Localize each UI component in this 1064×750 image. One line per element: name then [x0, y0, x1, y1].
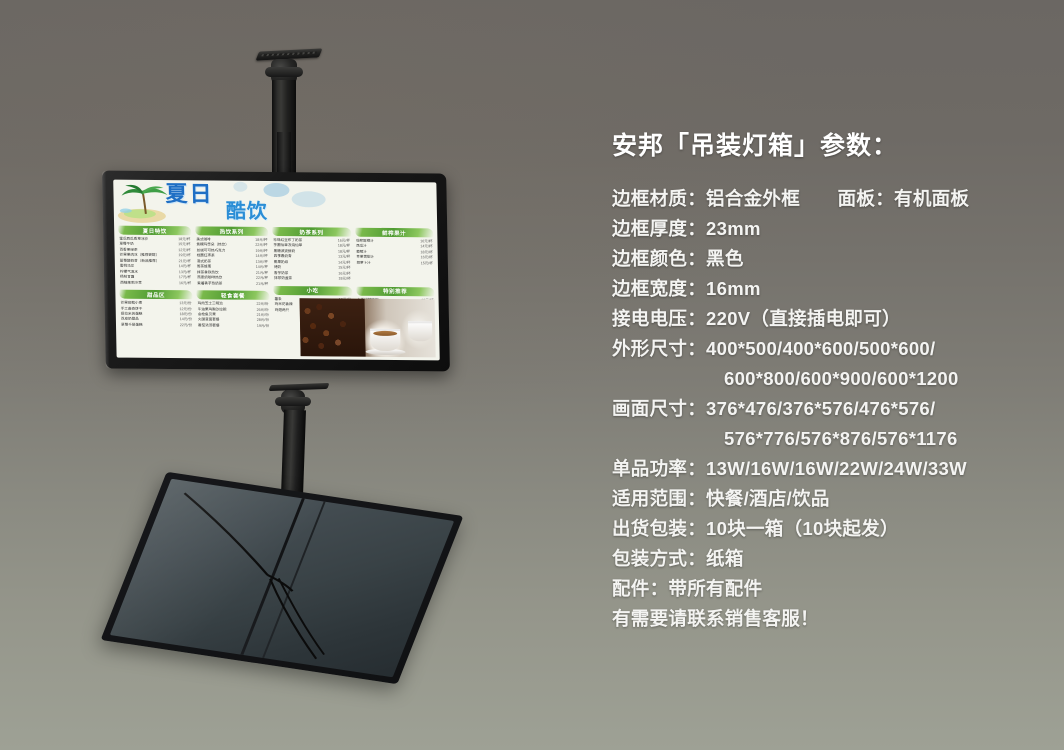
menu-item-price: 16元/杯: [176, 281, 191, 287]
spec-value: 黑色: [706, 248, 744, 269]
menu-right-column: 奶茶系列珍珠红豆布丁奶茶16元/杯芋圆仙草冻烧仙草18元/杯黑糖波波鲜奶18元/…: [272, 227, 436, 357]
menu-item-list: 美式咖啡18元/杯焦糖玛奇朵（热饮）22元/杯丝绒可可热巧克力19元/杯桂圆红枣…: [195, 237, 269, 287]
menu-hero-title-1: 夏日: [165, 184, 213, 206]
water-splash-icon: [263, 183, 289, 197]
spec-label: 边框宽度：: [612, 278, 706, 299]
spec-panel: 安邦「吊装灯箱」参数： 边框材质：铝合金外框 面板：有机面板边框厚度：23mm边…: [612, 126, 1042, 634]
spec-line: 576*776/576*876/576*1176: [612, 424, 1042, 454]
menu-item-row: 胡萝卜汁15元/杯: [356, 261, 433, 267]
spec-label: 接电电压：: [612, 308, 706, 329]
product-promo-image: 夏日 酷饮 夏日特饮蜜瓜西瓜香草冰沙18元/杯草莓牛奶15元/杯百香果绿茶12元…: [0, 0, 1064, 750]
menu-section-title: 夏日特饮: [143, 226, 167, 234]
spec-line: 外形尺寸：400*500/400*600/500*600/: [612, 334, 1042, 364]
spec-value: 16mm: [706, 278, 761, 299]
second-light-box-rear: [101, 472, 464, 684]
menu-item-price: 21元/杯: [253, 281, 268, 287]
menu-hero: 夏日 酷饮: [113, 180, 437, 229]
spec-label: 包装方式：: [612, 548, 706, 569]
spec-line: 包装方式：纸箱: [612, 544, 1042, 574]
menu-item-price: 18元/杯: [335, 277, 350, 283]
spec-line: 600*800/600*900/600*1200: [612, 364, 1042, 394]
panel-seam: [240, 498, 305, 655]
menu-section-title: 鲜榨果汁: [382, 228, 406, 236]
spec-line: 出货包装：10块一箱（10块起发）: [612, 514, 1042, 544]
menu-section-title: 甜品区: [147, 290, 165, 298]
spec-line: 配件：带所有配件: [612, 574, 1042, 604]
spec-line: 边框宽度：16mm: [612, 274, 1042, 304]
menu-item-list: 现榨鲜橙汁16元/杯西瓜汁14元/杯葡萄汁18元/杯苹果雪梨汁16元/杯胡萝卜汁…: [355, 239, 434, 267]
spec-value: 快餐/酒店/饮品: [706, 488, 830, 509]
menu-section-header: 夏日特饮: [118, 226, 191, 236]
page-title: 安邦「吊装灯箱」参数：: [612, 126, 1042, 162]
spec-label: 出货包装：: [612, 518, 706, 539]
water-splash-icon: [233, 182, 247, 192]
menu-section-title: 热饮系列: [220, 227, 244, 235]
spec-label: 边框厚度：: [612, 218, 706, 239]
spec-line: 单品功率：13W/16W/16W/22W/24W/33W: [612, 454, 1042, 484]
menu-item-list: 芒果班戟小食13元/份手工曲奇饼干12元/份提拉米苏蛋糕18元/份双皮奶甜品14…: [120, 301, 194, 329]
menu-section-header: 鲜榨果汁: [355, 228, 434, 238]
menu-section-header: 热饮系列: [195, 226, 268, 236]
menu-item-list: 鸡肉芝士三明治22元/份牛油果鸡胸沙拉碗26元/份金枪鱼贝果21元/份火腿意面套…: [197, 301, 271, 329]
spec-value: 10块一箱（10块起发）: [706, 518, 899, 539]
menu-section-title: 轻食套餐: [221, 291, 245, 299]
spec-value: 376*476/376*576/476*576/: [706, 398, 935, 419]
menu-item-row: 草莓千层蛋糕22元/份: [121, 323, 192, 329]
menu-section-title: 小吃: [307, 286, 319, 294]
menu-section: 鲜榨果汁现榨鲜橙汁16元/杯西瓜汁14元/杯葡萄汁18元/杯苹果雪梨汁16元/杯…: [355, 228, 435, 283]
spec-list: 边框材质：铝合金外框 面板：有机面板边框厚度：23mm边框颜色：黑色边框宽度：1…: [612, 184, 1042, 634]
coffee-cup-icon: [370, 329, 400, 351]
spec-label: 边框材质：: [612, 188, 706, 209]
menu-item-name: 抹茶奶盖茶: [274, 276, 292, 282]
menu-item-name: 胡萝卜汁: [356, 261, 370, 267]
menu-section: 奶茶系列珍珠红豆布丁奶茶16元/杯芋圆仙草冻烧仙草18元/杯黑糖波波鲜奶18元/…: [272, 227, 352, 282]
menu-item-name: 西柚茉莉冷萃: [120, 280, 142, 286]
menu-section: 甜品区芒果班戟小食13元/份手工曲奇饼干12元/份提拉米苏蛋糕18元/份双皮奶甜…: [119, 290, 193, 329]
spec-value: 400*500/400*600/500*600/: [706, 338, 935, 359]
menu-item-list: 珍珠红豆布丁奶茶16元/杯芋圆仙草冻烧仙草18元/杯黑糖波波鲜奶18元/杯四季春…: [272, 238, 351, 282]
menu-hero-title-2: 酷饮: [226, 201, 268, 221]
spec-label: 外形尺寸：: [612, 338, 706, 359]
menu-item-name: 草莓千层蛋糕: [121, 323, 143, 329]
menu-item-price: 15元/杯: [418, 261, 433, 267]
coffee-beans-icon: [300, 298, 366, 357]
menu-item-row: 紫薯香芋热奶茶21元/杯: [197, 281, 268, 287]
menu-item-row: 抹茶奶盖茶18元/杯: [274, 276, 351, 282]
spec-value: 铝合金外框 面板：有机面板: [706, 188, 969, 209]
spec-value: 纸箱: [706, 548, 744, 569]
spec-line: 适用范围：快餐/酒店/饮品: [612, 484, 1042, 514]
menu-section: 热饮系列美式咖啡18元/杯焦糖玛奇朵（热饮）22元/杯丝绒可可热巧克力19元/杯…: [195, 226, 269, 287]
power-cable-icon: [110, 479, 454, 678]
spec-value: 600*800/600*900/600*1200: [724, 368, 959, 389]
spec-label: 适用范围：: [612, 488, 706, 509]
spec-line: 有需要请联系销售客服！: [612, 604, 1042, 634]
spec-value: 23mm: [706, 218, 761, 239]
spec-value: 220V（直接插电即可）: [706, 308, 901, 329]
menu-section-title: 奶茶系列: [299, 228, 323, 236]
menu-light-box: 夏日 酷饮 夏日特饮蜜瓜西瓜香草冰沙18元/杯草莓牛奶15元/杯百香果绿茶12元…: [102, 171, 450, 372]
spec-label: 配件：: [612, 578, 668, 599]
spec-line: 画面尺寸：376*476/376*576/476*576/: [612, 394, 1042, 424]
spec-line: 接电电压：220V（直接插电即可）: [612, 304, 1042, 334]
menu-section-title: 特别推荐: [383, 287, 407, 295]
light-box-bezel: 夏日 酷饮 夏日特饮蜜瓜西瓜香草冰沙18元/杯草莓牛奶15元/杯百香果绿茶12元…: [102, 171, 450, 372]
menu-section-header: 轻食套餐: [196, 290, 269, 300]
menu-item-list: 蜜瓜西瓜香草冰沙18元/杯草莓牛奶15元/杯百香果绿茶12元/杯芒果果肉冰（推荐…: [118, 237, 192, 287]
menu-item-name: 鸡翅两只: [275, 308, 289, 314]
menu-section: 轻食套餐鸡肉芝士三明治22元/份牛油果鸡胸沙拉碗26元/份金枪鱼贝果21元/份火…: [196, 290, 270, 329]
spec-value: 13W/16W/16W/22W/24W/33W: [706, 458, 967, 479]
spec-label: 单品功率：: [612, 458, 706, 479]
coffee-photo: [300, 298, 436, 357]
panel-seam: [263, 502, 327, 659]
water-splash-icon: [291, 191, 325, 207]
menu-panel: 夏日 酷饮 夏日特饮蜜瓜西瓜香草冰沙18元/杯草莓牛奶15元/杯百香果绿茶12元…: [113, 180, 440, 361]
menu-item-row: 西柚茉莉冷萃16元/杯: [120, 280, 191, 286]
menu-item-row: 番茄浓汤套餐19元/份: [198, 323, 269, 329]
spec-label: 画面尺寸：: [612, 398, 706, 419]
spec-line: 边框颜色：黑色: [612, 244, 1042, 274]
second-light-box-face: [110, 479, 454, 678]
menu-section-header: 特别推荐: [356, 286, 435, 296]
menu-body: 夏日特饮蜜瓜西瓜香草冰沙18元/杯草莓牛奶15元/杯百香果绿茶12元/杯芒果果肉…: [114, 226, 440, 361]
spec-value: 有需要请联系销售客服！: [612, 608, 819, 629]
menu-section-header: 小吃: [273, 286, 352, 296]
spec-line: 边框厚度：23mm: [612, 214, 1042, 244]
menu-item-name: 紫薯香芋热奶茶: [197, 281, 222, 287]
spec-value: 576*776/576*876/576*1176: [724, 428, 958, 449]
menu-left-column: 夏日特饮蜜瓜西瓜香草冰沙18元/杯草莓牛奶15元/杯百香果绿茶12元/杯芒果果肉…: [118, 226, 271, 356]
menu-item-price: 19元/份: [254, 324, 269, 330]
spec-value: 带所有配件: [668, 578, 762, 599]
menu-section-header: 甜品区: [119, 290, 192, 300]
spec-line: 边框材质：铝合金外框 面板：有机面板: [612, 184, 1042, 214]
menu-item-name: 番茄浓汤套餐: [198, 323, 220, 329]
spec-label: 边框颜色：: [612, 248, 706, 269]
menu-section-header: 奶茶系列: [272, 227, 351, 237]
menu-item-price: 22元/份: [177, 323, 192, 329]
menu-section: 夏日特饮蜜瓜西瓜香草冰沙18元/杯草莓牛奶15元/杯百香果绿茶12元/杯芒果果肉…: [118, 226, 192, 287]
coffee-cup-icon: [408, 321, 432, 341]
